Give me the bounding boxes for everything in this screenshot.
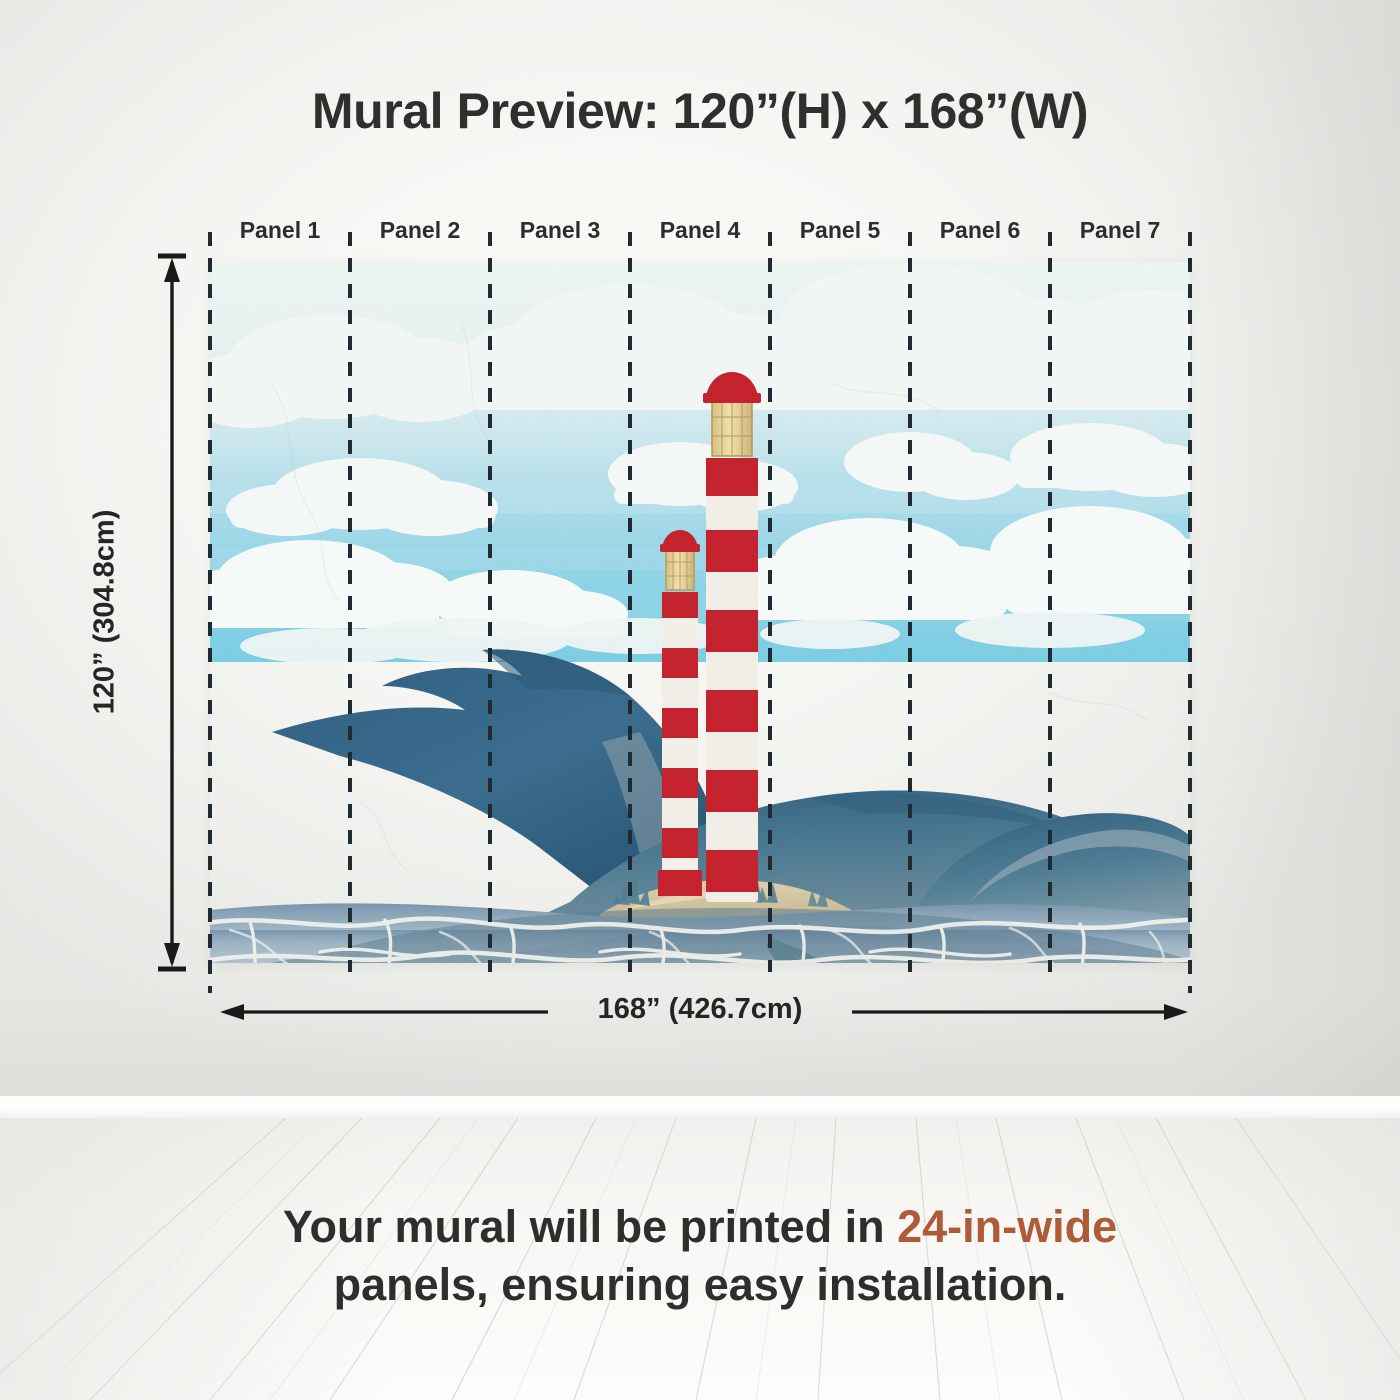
mural-artwork-preview (210, 262, 1190, 963)
caption-accent-panel-width: 24-in-wide (897, 1201, 1117, 1252)
panel-label-1: Panel 1 (210, 214, 350, 246)
width-dimension-label: 168” (426.7cm) (0, 993, 1400, 1026)
baseboard (0, 1096, 1400, 1120)
width-dimension-text: 168” (426.7cm) (580, 993, 821, 1025)
page-title: Mural Preview: 120”(H) x 168”(W) (0, 82, 1400, 140)
panel-label-4: Panel 4 (630, 214, 770, 246)
panel-label-5: Panel 5 (770, 214, 910, 246)
wall-shadow-right (1170, 0, 1400, 1110)
caption-line-1-prefix: Your mural will be printed in (283, 1201, 897, 1252)
panel-label-row: Panel 1 Panel 2 Panel 3 Panel 4 Panel 5 … (210, 214, 1190, 246)
caption-line-2: panels, ensuring easy installation. (0, 1256, 1400, 1314)
panel-label-7: Panel 7 (1050, 214, 1190, 246)
caption-line-1: Your mural will be printed in 24-in-wide (0, 1198, 1400, 1256)
panel-label-3: Panel 3 (490, 214, 630, 246)
height-dimension-label: 120” (304.8cm) (89, 447, 122, 777)
panel-label-2: Panel 2 (350, 214, 490, 246)
mural-preview-screenshot: Mural Preview: 120”(H) x 168”(W) Panel 1… (0, 0, 1400, 1400)
panel-label-6: Panel 6 (910, 214, 1050, 246)
installation-caption: Your mural will be printed in 24-in-wide… (0, 1198, 1400, 1313)
